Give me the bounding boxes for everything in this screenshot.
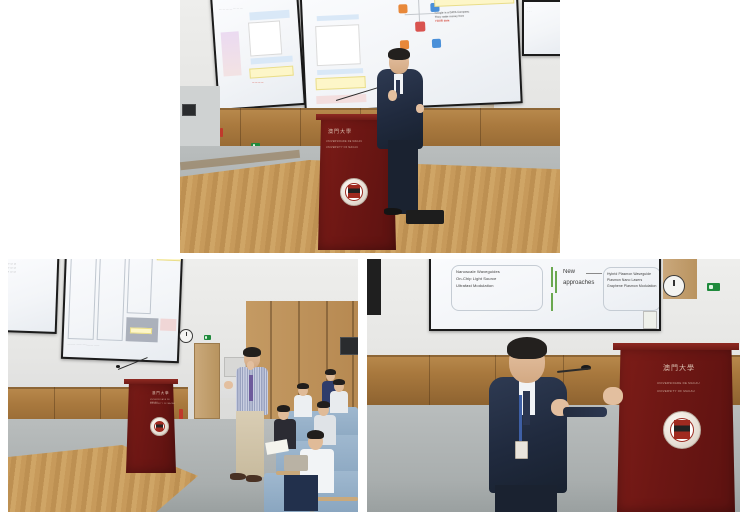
fire-extinguisher [220, 128, 223, 137]
podium-english-name: UNIVERSITY OF MACAU [150, 403, 178, 406]
projection-screen-main: ——— —— ———— —— [61, 259, 183, 363]
screen-surface: · · ·· · · [524, 2, 560, 54]
podium-chinese-name: 澳門大學 [328, 128, 352, 135]
speaker-lanyard [519, 395, 522, 441]
speaker-trousers [388, 140, 418, 214]
speaker-hand-left [388, 90, 397, 101]
projection-screen-right: · · ·· · · [522, 0, 560, 56]
speaker-shoe [384, 208, 402, 215]
projection-screen-left: — — — — — — — — — — — [210, 0, 306, 111]
speaker-hair [507, 337, 547, 359]
slide-center-label-2: approaches [563, 278, 603, 289]
questioner-trousers [236, 411, 264, 477]
speaker-hand-right [416, 104, 424, 113]
podium-top [613, 343, 739, 350]
laptop [284, 455, 308, 471]
floor-equipment-box [406, 210, 444, 224]
questioner-hand-gesture [224, 381, 233, 389]
speaker-tie [523, 391, 530, 425]
screen-surface: — — — — — — — — — — — [212, 0, 303, 109]
university-seal [663, 411, 701, 449]
questioner-sandal-left [230, 473, 246, 480]
questioner-hair [243, 347, 261, 357]
slide-line-2: MORE profits [436, 0, 511, 1]
speaker-hair [388, 48, 410, 60]
wall-recess [180, 86, 220, 146]
wall-clock [179, 329, 193, 343]
photo-audience-question-session: ▭ ▭ ▭▭ ▭ ▭▭ ▭ ▭ ——— —— ———— —— [8, 259, 358, 512]
university-seal [150, 417, 169, 436]
podium-chinese-name: 澳門大學 [663, 363, 695, 373]
podium-english-name: UNIVERSITY OF MACAU [657, 389, 731, 393]
exit-sign [204, 335, 211, 340]
speaker-trousers [495, 485, 557, 512]
wall-clock [663, 275, 685, 297]
podium-chinese-name: 澳門大學 [152, 390, 170, 395]
speaker-arm-outstretched [563, 407, 607, 417]
speaker-name-badge [515, 441, 528, 459]
questioner-tie [249, 375, 253, 401]
podium-top [124, 379, 178, 384]
wall-notice [643, 311, 657, 329]
podium-portuguese-name: UNIVERSIDADE DE MACAU [657, 381, 731, 385]
photo-collage: · · ·· · · — — — — — — — — — — — [0, 0, 740, 512]
screen-surface: Nanoscale Waveguides On-Chip Light Sourc… [431, 259, 659, 329]
projection-screen-left: ▭ ▭ ▭▭ ▭ ▭▭ ▭ ▭ [8, 259, 59, 334]
slide-right-bullet-3: Graphene Plasmon Modulation [607, 283, 659, 289]
photo-speaker-gesturing-closeup: Nanoscale Waveguides On-Chip Light Sourc… [367, 259, 740, 512]
projection-screen-main: Nanoscale Waveguides On-Chip Light Sourc… [429, 259, 661, 331]
exit-sign-upper [707, 283, 720, 291]
audience-member-trousers [284, 475, 318, 511]
slide-left-bullet-2: On-Chip Light Source [456, 276, 544, 283]
wall-monitor [340, 337, 358, 355]
audience-member-body [294, 395, 312, 417]
wall-monitor [182, 104, 196, 116]
slide-left-bullet-3: Ultrafast Modulation [456, 283, 544, 290]
university-seal [340, 178, 368, 206]
microphone-head [116, 365, 120, 368]
projection-screen-edge-left [367, 259, 381, 315]
photo-speaker-at-podium-wide: · · ·· · · — — — — — — — — — — — [180, 0, 560, 253]
questioner-hand-mic [247, 361, 254, 370]
door [194, 343, 220, 419]
speaker-hand-left [603, 387, 623, 405]
screen-surface: ——— —— ———— —— [63, 259, 181, 361]
audience-member-body [330, 391, 348, 413]
questioner-sandal-right [246, 475, 262, 482]
slide-left-bullet-1: Nanoscale Waveguides [456, 269, 544, 276]
screen-surface: ▭ ▭ ▭▭ ▭ ▭▭ ▭ ▭ [8, 259, 57, 332]
